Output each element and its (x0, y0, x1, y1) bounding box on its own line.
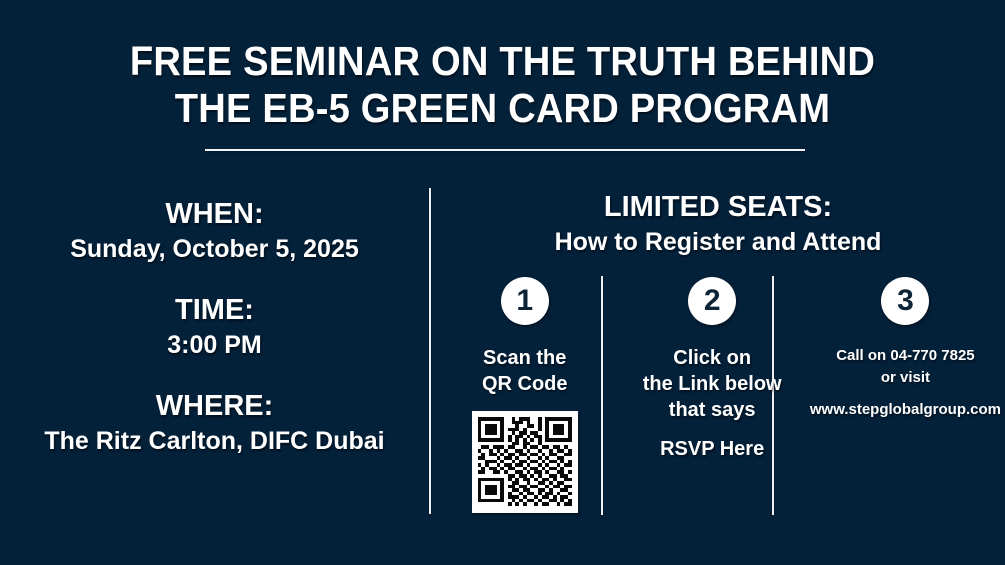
detail-where-value: The Ritz Carlton, DIFC Dubai (0, 424, 429, 458)
page-title: FREE SEMINAR ON THE TRUTH BEHIND THE EB-… (0, 38, 1005, 132)
event-details: WHEN: Sunday, October 5, 2025 TIME: 3:00… (0, 196, 429, 458)
step-2: 2 Click on the Link below that says RSVP… (618, 277, 805, 527)
detail-where-label: WHERE: (0, 388, 429, 424)
title-line-1: FREE SEMINAR ON THE TRUTH BEHIND (35, 38, 970, 85)
step-1: 1 Scan the QR Code (431, 277, 618, 527)
detail-time: TIME: 3:00 PM (0, 292, 429, 362)
detail-time-value: 3:00 PM (0, 328, 429, 362)
register-subheading: How to Register and Attend (431, 226, 1005, 259)
step-2-line-3: that says (643, 397, 782, 423)
detail-time-label: TIME: (0, 292, 429, 328)
title-line-2: THE EB-5 GREEN CARD PROGRAM (35, 85, 970, 132)
register-steps: 1 Scan the QR Code 2 Click on the Link b… (431, 277, 1005, 527)
step-3-text: Call on 04-770 7825 or visit (832, 345, 978, 389)
step-3: 3 Call on 04-770 7825 or visit www.stepg… (806, 277, 1005, 527)
step-2-text: Click on the Link below that says (639, 345, 786, 423)
website-link[interactable]: www.stepglobalgroup.com (806, 399, 1005, 421)
detail-when-value: Sunday, October 5, 2025 (0, 232, 429, 266)
detail-where: WHERE: The Ritz Carlton, DIFC Dubai (0, 388, 429, 458)
qr-code-grid (478, 417, 572, 506)
step-2-number-badge: 2 (688, 277, 736, 325)
detail-when: WHEN: Sunday, October 5, 2025 (0, 196, 429, 266)
step-3-phone: Call on 04-770 7825 (836, 345, 974, 367)
register-section: LIMITED SEATS: How to Register and Atten… (431, 190, 1005, 259)
title-divider (205, 149, 805, 151)
detail-when-label: WHEN: (0, 196, 429, 232)
step-1-line-2: QR Code (482, 371, 568, 397)
step-2-line-2: the Link below (643, 371, 782, 397)
step-1-number-badge: 1 (501, 277, 549, 325)
seminar-flyer: FREE SEMINAR ON THE TRUTH BEHIND THE EB-… (0, 0, 1005, 565)
rsvp-here-link[interactable]: RSVP Here (656, 436, 768, 462)
limited-seats-heading: LIMITED SEATS: (431, 190, 1005, 225)
step-3-line-2: or visit (836, 367, 974, 389)
step-2-line-1: Click on (643, 345, 782, 371)
step-1-line-1: Scan the (482, 345, 568, 371)
qr-code[interactable] (472, 411, 578, 513)
step-1-text: Scan the QR Code (478, 345, 572, 397)
step-3-number-badge: 3 (881, 277, 929, 325)
